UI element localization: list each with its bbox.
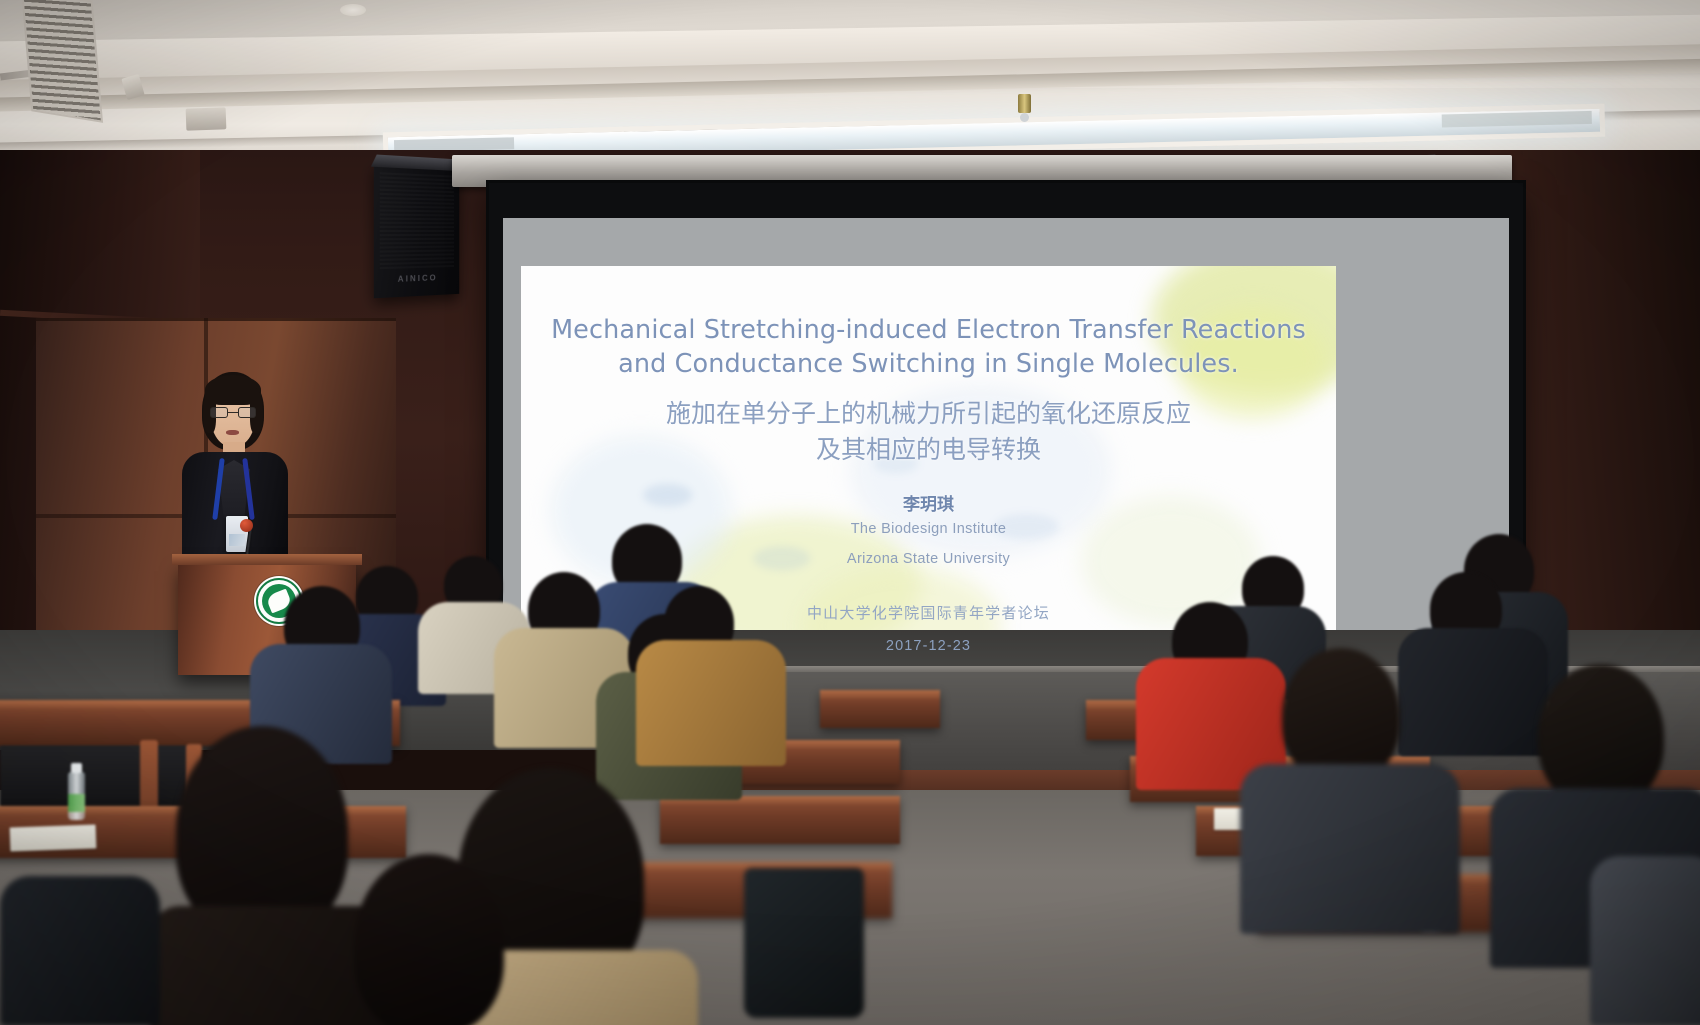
glasses-icon <box>210 407 256 418</box>
audience-head <box>1538 664 1664 808</box>
slide-title-cn-line1: 施加在单分子上的机械力所引起的氧化还原反应 <box>521 397 1336 433</box>
desk <box>820 690 940 728</box>
slide-affiliation-line1: The Biodesign Institute <box>521 521 1336 537</box>
microphone-icon <box>240 519 253 532</box>
ceiling <box>0 0 1700 175</box>
chair <box>0 746 200 808</box>
presenter <box>176 372 294 572</box>
lecture-hall-scene: AINICO AINICO Mechanical Stretching-indu… <box>0 0 1700 1025</box>
slide-forum-name: 中山大学化学院国际青年学者论坛 <box>521 602 1336 623</box>
audience-torso <box>1240 764 1460 934</box>
slide-author: 李玥琪 <box>521 490 1336 515</box>
notebook <box>10 825 97 852</box>
slide-title-en: Mechanical Stretching-induced Electron T… <box>521 314 1336 382</box>
projected-slide: Mechanical Stretching-induced Electron T… <box>521 266 1336 656</box>
slide-affiliation-line2: Arizona State University <box>521 551 1336 567</box>
ceiling-spot-light <box>340 4 366 16</box>
projection-screen: Mechanical Stretching-induced Electron T… <box>489 183 1523 681</box>
loudspeaker-left: AINICO <box>374 164 459 299</box>
air-vent-icon <box>21 0 103 123</box>
audience-torso <box>0 876 160 1025</box>
loudspeaker-left-brand: AINICO <box>374 272 459 285</box>
slide-title-cn-line2: 及其相应的电导转换 <box>521 433 1336 469</box>
slide-text-block: Mechanical Stretching-induced Electron T… <box>521 266 1336 656</box>
water-bottle <box>68 772 85 820</box>
sprinkler-head-icon <box>1016 94 1032 124</box>
slide-title-en-line2: and Conductance Switching in Single Mole… <box>521 348 1336 382</box>
desk <box>660 796 900 844</box>
screen-surface: Mechanical Stretching-induced Electron T… <box>503 218 1509 656</box>
slide-title-cn: 施加在单分子上的机械力所引起的氧化还原反应 及其相应的电导转换 <box>521 397 1336 468</box>
ceiling-speaker-icon <box>186 107 227 130</box>
slide-date: 2017-12-23 <box>521 638 1336 654</box>
audience-torso <box>1590 856 1700 1025</box>
audience-torso <box>1398 628 1548 756</box>
audience-torso <box>636 640 786 766</box>
audience-head <box>354 854 504 1025</box>
audience-head <box>176 726 348 936</box>
slide-title-en-line1: Mechanical Stretching-induced Electron T… <box>521 314 1336 348</box>
backpack <box>744 868 864 1018</box>
